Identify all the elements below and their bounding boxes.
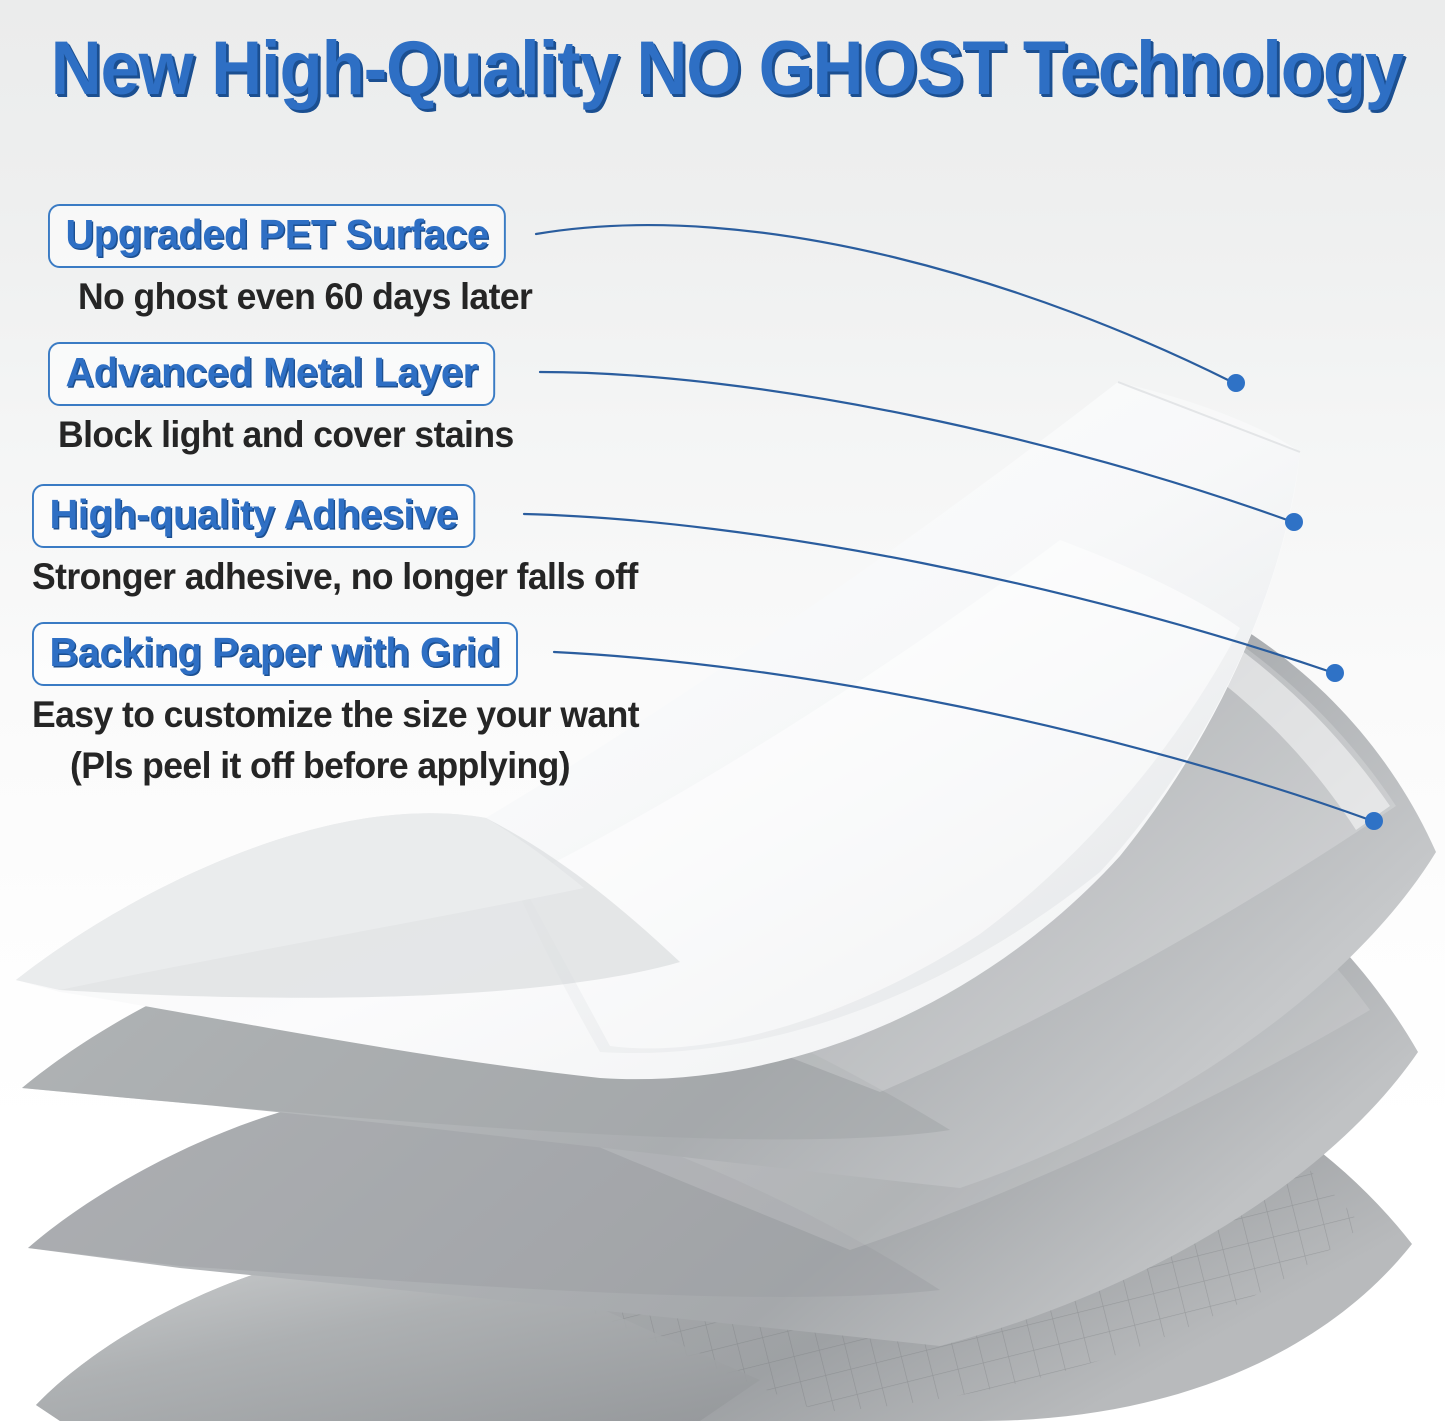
callout-backing-paper-with-grid: Backing Paper with Grid Easy to customiz…: [32, 622, 664, 788]
callout-label-3[interactable]: High-quality Adhesive: [32, 484, 475, 548]
callout-upgraded-pet-surface: Upgraded PET Surface No ghost even 60 da…: [48, 204, 551, 319]
callout-subtitle-2: Block light and cover stains: [58, 412, 514, 457]
callout-subtitle-3: Stronger adhesive, no longer falls off: [32, 554, 638, 599]
callout-subtitle-4a: Easy to customize the size your want: [32, 692, 639, 737]
leader-dot-3: [1326, 664, 1344, 682]
infographic-canvas: New High-Quality NO GHOST Technology Upg…: [0, 0, 1445, 1421]
leader-dot-1: [1227, 374, 1245, 392]
callout-advanced-metal-layer: Advanced Metal Layer Block light and cov…: [48, 342, 533, 457]
leader-dot-4: [1365, 812, 1383, 830]
leader-dot-2: [1285, 513, 1303, 531]
callout-label-1[interactable]: Upgraded PET Surface: [48, 204, 506, 268]
callout-label-4[interactable]: Backing Paper with Grid: [32, 622, 518, 686]
callout-label-2[interactable]: Advanced Metal Layer: [48, 342, 495, 406]
leader-line-1: [536, 225, 1232, 382]
callout-subtitle-1: No ghost even 60 days later: [78, 274, 532, 319]
page-title: New High-Quality NO GHOST Technology: [51, 28, 1395, 110]
callout-high-quality-adhesive: High-quality Adhesive Stronger adhesive,…: [32, 484, 663, 599]
callout-subtitle-4b: (Pls peel it off before applying): [70, 743, 640, 788]
